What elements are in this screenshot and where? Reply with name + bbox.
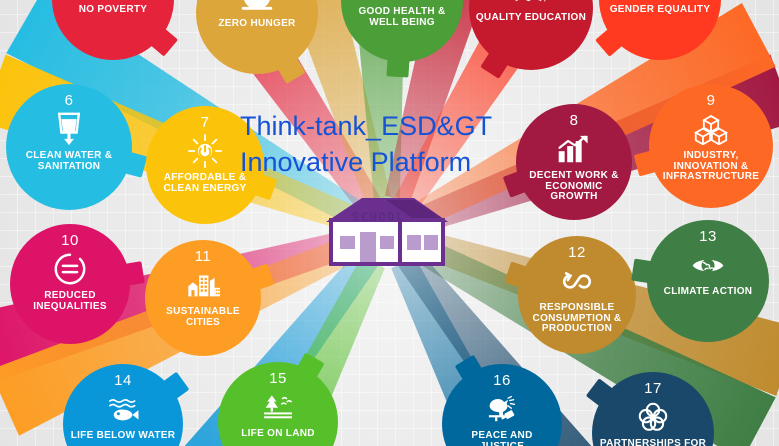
goal-label: PEACE AND JUSTICE — [442, 431, 562, 446]
goal-label: LIFE BELOW WATER — [65, 431, 182, 442]
goal-number: 13 — [699, 229, 717, 244]
goal-label: CLEAN WATER & SANITATION — [6, 151, 132, 172]
goal-number: 8 — [570, 113, 579, 128]
goal-label: ZERO HUNGER — [212, 19, 301, 30]
goal-number: 12 — [568, 245, 586, 260]
cubes-icon — [694, 112, 728, 146]
rings-icon — [636, 400, 670, 434]
school-sign-text: SCHOOL — [322, 210, 452, 224]
goal-label: SUSTAINABLE CITIES — [145, 307, 261, 328]
fish-waves-icon — [106, 392, 140, 426]
school-building-graphic: SCHOOL — [322, 196, 452, 266]
water-glass-icon — [52, 112, 86, 146]
title-line-2: Innovative Platform — [240, 144, 570, 180]
goal-label: INDUSTRY, INNOVATION & INFRASTRUCTURE — [649, 151, 773, 183]
school-icon — [322, 196, 452, 266]
infinity-icon — [560, 264, 594, 298]
goal-node-9[interactable]: 9INDUSTRY, INNOVATION & INFRASTRUCTURE — [649, 84, 773, 208]
goal-node-1[interactable]: 1NO POVERTY — [52, 0, 174, 60]
sun-power-icon — [188, 134, 222, 168]
steaming-bowl-icon — [240, 0, 274, 14]
heartbeat-icon — [385, 0, 419, 2]
equals-circle-icon — [53, 252, 87, 286]
goal-label: CLIMATE ACTION — [658, 287, 759, 298]
goal-number: 9 — [707, 93, 716, 108]
page-title: Think-tank_ESD&GT Innovative Platform — [240, 108, 570, 180]
dove-gavel-icon — [485, 392, 519, 426]
goal-node-13[interactable]: 13CLIMATE ACTION — [647, 220, 769, 342]
goal-number: 14 — [114, 373, 132, 388]
goal-label: GENDER EQUALITY — [604, 5, 717, 16]
goal-number: 11 — [195, 249, 212, 264]
goal-number: 15 — [269, 371, 287, 386]
eye-earth-icon — [691, 248, 725, 282]
title-line-1: Think-tank_ESD&GT — [240, 111, 492, 141]
book-pencil-icon — [514, 0, 548, 8]
goal-number: 7 — [201, 115, 210, 130]
goal-number: 16 — [493, 373, 511, 388]
tree-birds-icon — [261, 390, 295, 424]
goal-node-15[interactable]: 15LIFE ON LAND — [218, 362, 338, 446]
goal-label: PARTNERSHIPS FOR THE GOALS — [592, 439, 714, 446]
goal-label: REDUCED INEQUALITIES — [10, 291, 130, 312]
goal-node-12[interactable]: 12RESPONSIBLE CONSUMPTION & PRODUCTION — [518, 236, 636, 354]
goal-node-10[interactable]: 10REDUCED INEQUALITIES — [10, 224, 130, 344]
goal-node-11[interactable]: 11SUSTAINABLE CITIES — [145, 240, 261, 356]
city-buildings-icon — [186, 268, 220, 302]
goal-node-14[interactable]: 14LIFE BELOW WATER — [63, 364, 183, 446]
goal-label: QUALITY EDUCATION — [470, 13, 592, 24]
goal-number: 10 — [61, 233, 79, 248]
goal-label: GOOD HEALTH & WELL BEING — [341, 7, 463, 28]
goal-number: 17 — [644, 381, 662, 396]
goal-node-17[interactable]: 17PARTNERSHIPS FOR THE GOALS — [592, 372, 714, 446]
sdg-infographic-canvas: 1NO POVERTY2ZERO HUNGER3GOOD HEALTH & WE… — [0, 0, 779, 446]
goal-label: LIFE ON LAND — [235, 429, 321, 440]
goal-label: NO POVERTY — [73, 5, 154, 16]
goal-node-6[interactable]: 6CLEAN WATER & SANITATION — [6, 84, 132, 210]
goal-label: RESPONSIBLE CONSUMPTION & PRODUCTION — [518, 303, 636, 335]
goal-number: 6 — [65, 93, 74, 108]
goal-node-3[interactable]: 3GOOD HEALTH & WELL BEING — [341, 0, 463, 62]
goal-node-5[interactable]: 5GENDER EQUALITY — [599, 0, 721, 60]
